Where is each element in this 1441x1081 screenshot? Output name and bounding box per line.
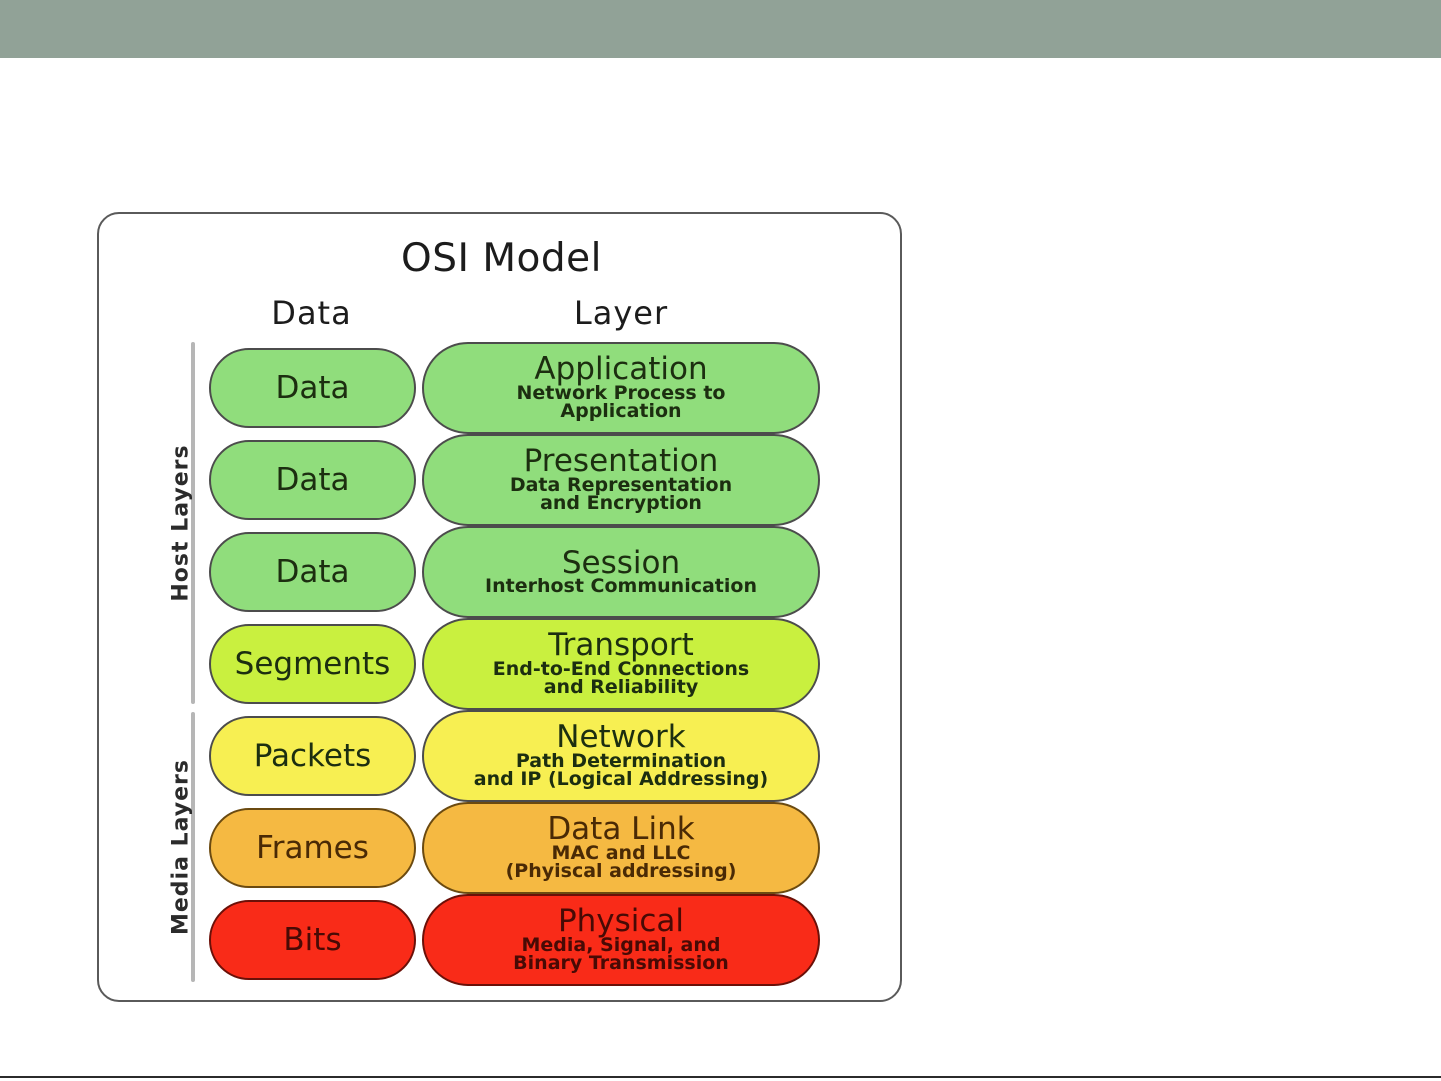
layer-row: DataPresentationData Representationand E… <box>99 434 904 526</box>
slide-banner <box>0 0 1441 58</box>
data-unit-label: Bits <box>283 925 341 956</box>
data-unit-label: Segments <box>235 649 391 680</box>
data-unit-pill: Data <box>209 348 416 428</box>
layer-description-line: and Reliability <box>544 678 699 697</box>
layer-name: Session <box>562 548 680 578</box>
data-unit-label: Data <box>275 465 349 496</box>
data-unit-pill: Segments <box>209 624 416 704</box>
data-unit-pill: Frames <box>209 808 416 888</box>
data-unit-label: Data <box>275 557 349 588</box>
data-unit-label: Data <box>275 373 349 404</box>
layer-description-line: (Phyiscal addressing) <box>506 862 737 881</box>
diagram-title: OSI Model <box>99 236 904 281</box>
layer-description-line: and IP (Logical Addressing) <box>474 770 768 789</box>
layer-pill: Data LinkMAC and LLC(Phyiscal addressing… <box>422 802 820 894</box>
layer-pill: TransportEnd-to-End Connectionsand Relia… <box>422 618 820 710</box>
layer-row: DataSessionInterhost Communication <box>99 526 904 618</box>
osi-model-diagram: OSI Model Data Layer Host Layers Media L… <box>97 212 902 1002</box>
layer-description-line: Interhost Communication <box>485 577 757 596</box>
layer-row: SegmentsTransportEnd-to-End Connectionsa… <box>99 618 904 710</box>
column-header-layer: Layer <box>422 294 820 332</box>
layer-name: Presentation <box>524 446 719 476</box>
slide-bottom-rule <box>0 1076 1441 1078</box>
layer-description-line: Binary Transmission <box>513 954 729 973</box>
layer-pill: PresentationData Representationand Encry… <box>422 434 820 526</box>
column-header-data: Data <box>209 294 414 332</box>
data-unit-label: Packets <box>254 741 372 772</box>
data-unit-label: Frames <box>256 833 369 864</box>
layer-name: Transport <box>548 630 693 660</box>
data-unit-pill: Data <box>209 440 416 520</box>
layer-row: DataApplicationNetwork Process toApplica… <box>99 342 904 434</box>
layer-row: BitsPhysicalMedia, Signal, andBinary Tra… <box>99 894 904 986</box>
layer-pill: PhysicalMedia, Signal, andBinary Transmi… <box>422 894 820 986</box>
layer-row: PacketsNetworkPath Determinationand IP (… <box>99 710 904 802</box>
layer-row: FramesData LinkMAC and LLC(Phyiscal addr… <box>99 802 904 894</box>
data-unit-pill: Data <box>209 532 416 612</box>
layer-description-line: and Encryption <box>540 494 702 513</box>
layer-description-line: Application <box>560 402 681 421</box>
layer-pill: SessionInterhost Communication <box>422 526 820 618</box>
layer-name: Data Link <box>547 814 694 844</box>
layer-name: Network <box>556 722 685 752</box>
data-unit-pill: Packets <box>209 716 416 796</box>
layer-pill: NetworkPath Determinationand IP (Logical… <box>422 710 820 802</box>
layer-pill: ApplicationNetwork Process toApplication <box>422 342 820 434</box>
layer-name: Physical <box>558 906 684 936</box>
layer-name: Application <box>534 354 707 384</box>
data-unit-pill: Bits <box>209 900 416 980</box>
